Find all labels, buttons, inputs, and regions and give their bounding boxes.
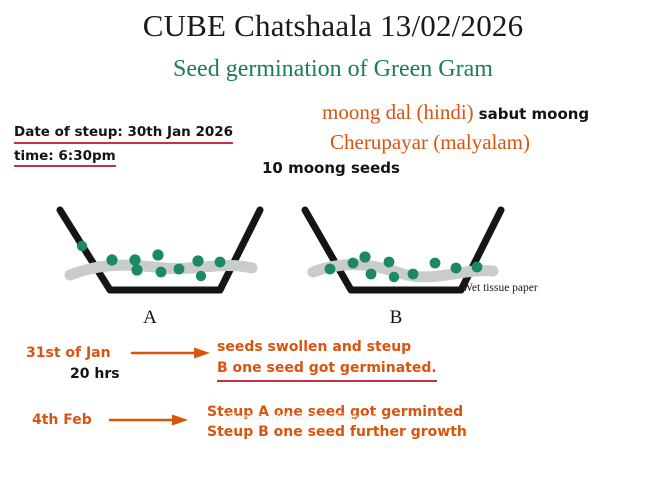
beaker-a-label: A: [130, 307, 170, 329]
page-subtitle: Seed germination of Green Gram: [0, 56, 666, 83]
seed-dot: [348, 258, 359, 269]
seed-dot: [389, 272, 399, 282]
observation-1-arrow-icon: [130, 345, 214, 361]
setup-date-row: Date of steup: 30th Jan 2026: [14, 126, 233, 144]
seed-dot: [129, 254, 140, 265]
observation-2-line-1: Steup A one seed got germinted: [207, 403, 463, 422]
seed-dot: [106, 254, 117, 265]
seed-dot: [325, 264, 336, 275]
setup-time-row: time: 6:30pm: [14, 150, 233, 168]
setup-info-block: Date of steup: 30th Jan 2026 time: 6:30p…: [14, 126, 233, 167]
seed-dot: [408, 269, 419, 280]
seed-dot: [472, 262, 483, 273]
seed-dot: [174, 264, 185, 275]
setup-date-text: Date of steup: 30th Jan 2026: [14, 126, 233, 144]
seed-dot: [384, 257, 395, 268]
wet-tissue-paper-label: Wet tissue paper: [462, 282, 538, 294]
local-names-row: moong dal (hindi)sabut moong: [322, 100, 589, 125]
seed-dot: [359, 251, 370, 262]
observation-2-arrow-icon: [108, 412, 192, 428]
beaker-a: [48, 198, 278, 308]
observation-1-duration: 20 hrs: [70, 366, 120, 382]
slide-canvas: CUBE Chatshaala 13/02/2026 Seed germinat…: [0, 0, 666, 500]
seed-dot: [366, 269, 377, 280]
observation-2-line-2: Steup B one seed further growth: [207, 423, 467, 442]
setup-time-text: time: 6:30pm: [14, 150, 116, 168]
seed-dot: [156, 267, 167, 278]
observation-1-line-2: B one seed got germinated.: [217, 359, 437, 382]
malayalam-name-label: Cherupayar (malyalam): [330, 130, 530, 155]
hindi-name-label: moong dal (hindi): [322, 100, 474, 124]
beaker-a-drawing: [48, 198, 278, 308]
observation-1-date: 31st of Jan: [26, 345, 111, 361]
beaker-b-label: B: [376, 307, 416, 329]
seed-dot: [152, 249, 163, 260]
seed-dot: [430, 258, 441, 269]
seed-dot: [451, 263, 462, 274]
observation-1-line-1: seeds swollen and steup: [217, 338, 411, 357]
page-title: CUBE Chatshaala 13/02/2026: [0, 8, 666, 44]
sabut-moong-label: sabut moong: [479, 105, 590, 123]
observation-1-line-2-wrap: B one seed got germinated.: [217, 359, 437, 382]
seed-dot: [77, 241, 87, 251]
seed-dot: [196, 271, 206, 281]
seed-dot: [192, 255, 203, 266]
seed-dot: [215, 257, 226, 268]
observation-2-date: 4th Feb: [32, 412, 92, 428]
seed-count-label: 10 moong seeds: [262, 159, 400, 177]
seed-dot: [131, 264, 142, 275]
